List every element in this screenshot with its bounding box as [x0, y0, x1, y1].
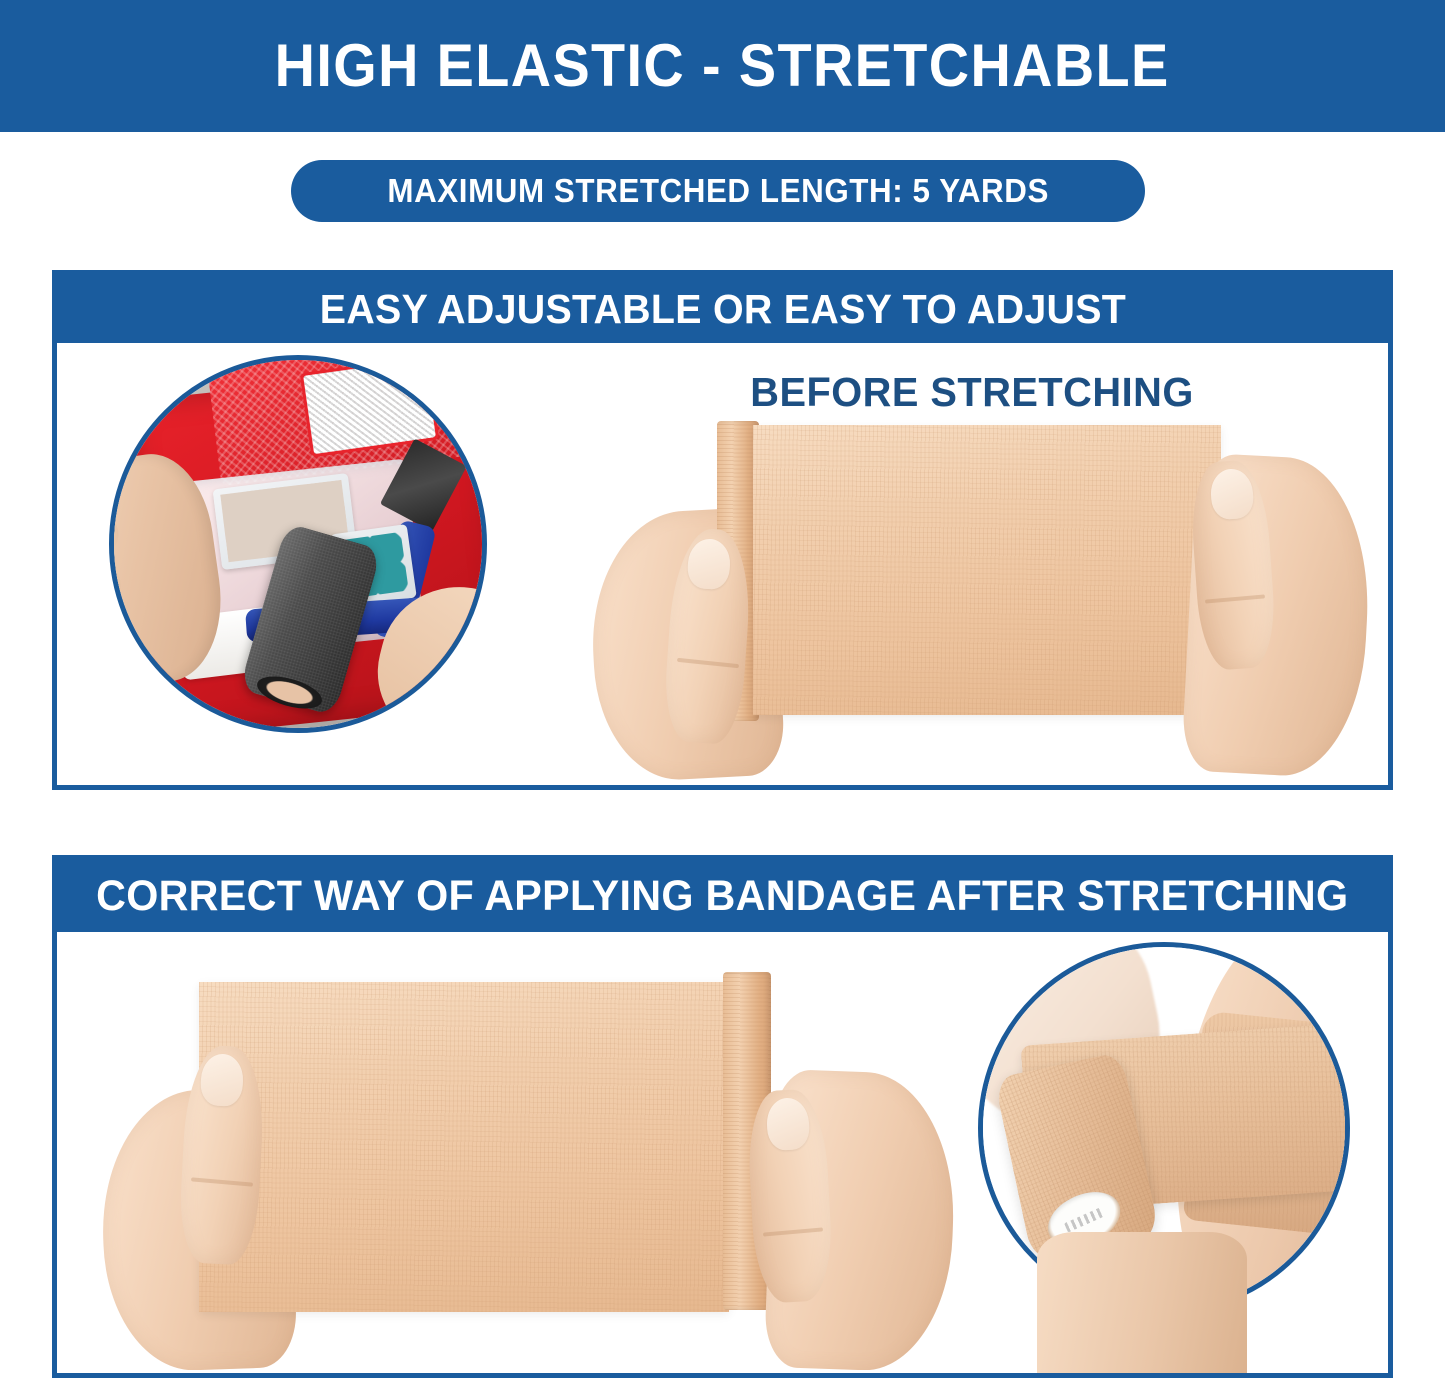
left-index-finger — [109, 557, 127, 611]
max-stretched-length-badge: MAXIMUM STRETCHED LENGTH: 5 YARDS — [291, 160, 1145, 222]
panel-1-body: BEFORE STRETCHING — [57, 343, 1388, 785]
bandage-sheet — [199, 982, 729, 1312]
panel-2-body — [57, 932, 1388, 1371]
badge-label: MAXIMUM STRETCHED LENGTH: 5 YARDS — [387, 172, 1049, 210]
before-stretching-photo: BEFORE STRETCHING — [557, 361, 1387, 781]
panel-1-header: EASY ADJUSTABLE OR EASY TO ADJUST — [57, 275, 1388, 343]
kit-scene — [114, 360, 482, 728]
page-header-bar: HIGH ELASTIC - STRETCHABLE — [0, 0, 1445, 132]
forearm — [1037, 1232, 1247, 1378]
bandage-sheet — [753, 425, 1221, 715]
first-aid-kit-photo — [109, 355, 487, 733]
page-title: HIGH ELASTIC - STRETCHABLE — [275, 36, 1170, 96]
panel-2-header: CORRECT WAY OF APPLYING BANDAGE AFTER ST… — [57, 860, 1388, 932]
left-thumb — [109, 501, 126, 560]
before-stretching-label: BEFORE STRETCHING — [569, 369, 1374, 416]
panel-correct-way-applying: CORRECT WAY OF APPLYING BANDAGE AFTER ST… — [52, 855, 1393, 1378]
roll-core-printed-text — [1064, 1207, 1104, 1233]
after-stretching-photo — [79, 942, 959, 1370]
panel-1-header-label: EASY ADJUSTABLE OR EASY TO ADJUST — [319, 289, 1125, 330]
panel-easy-adjustable: EASY ADJUSTABLE OR EASY TO ADJUST — [52, 270, 1393, 790]
panel-2-header-label: CORRECT WAY OF APPLYING BANDAGE AFTER ST… — [96, 875, 1348, 918]
